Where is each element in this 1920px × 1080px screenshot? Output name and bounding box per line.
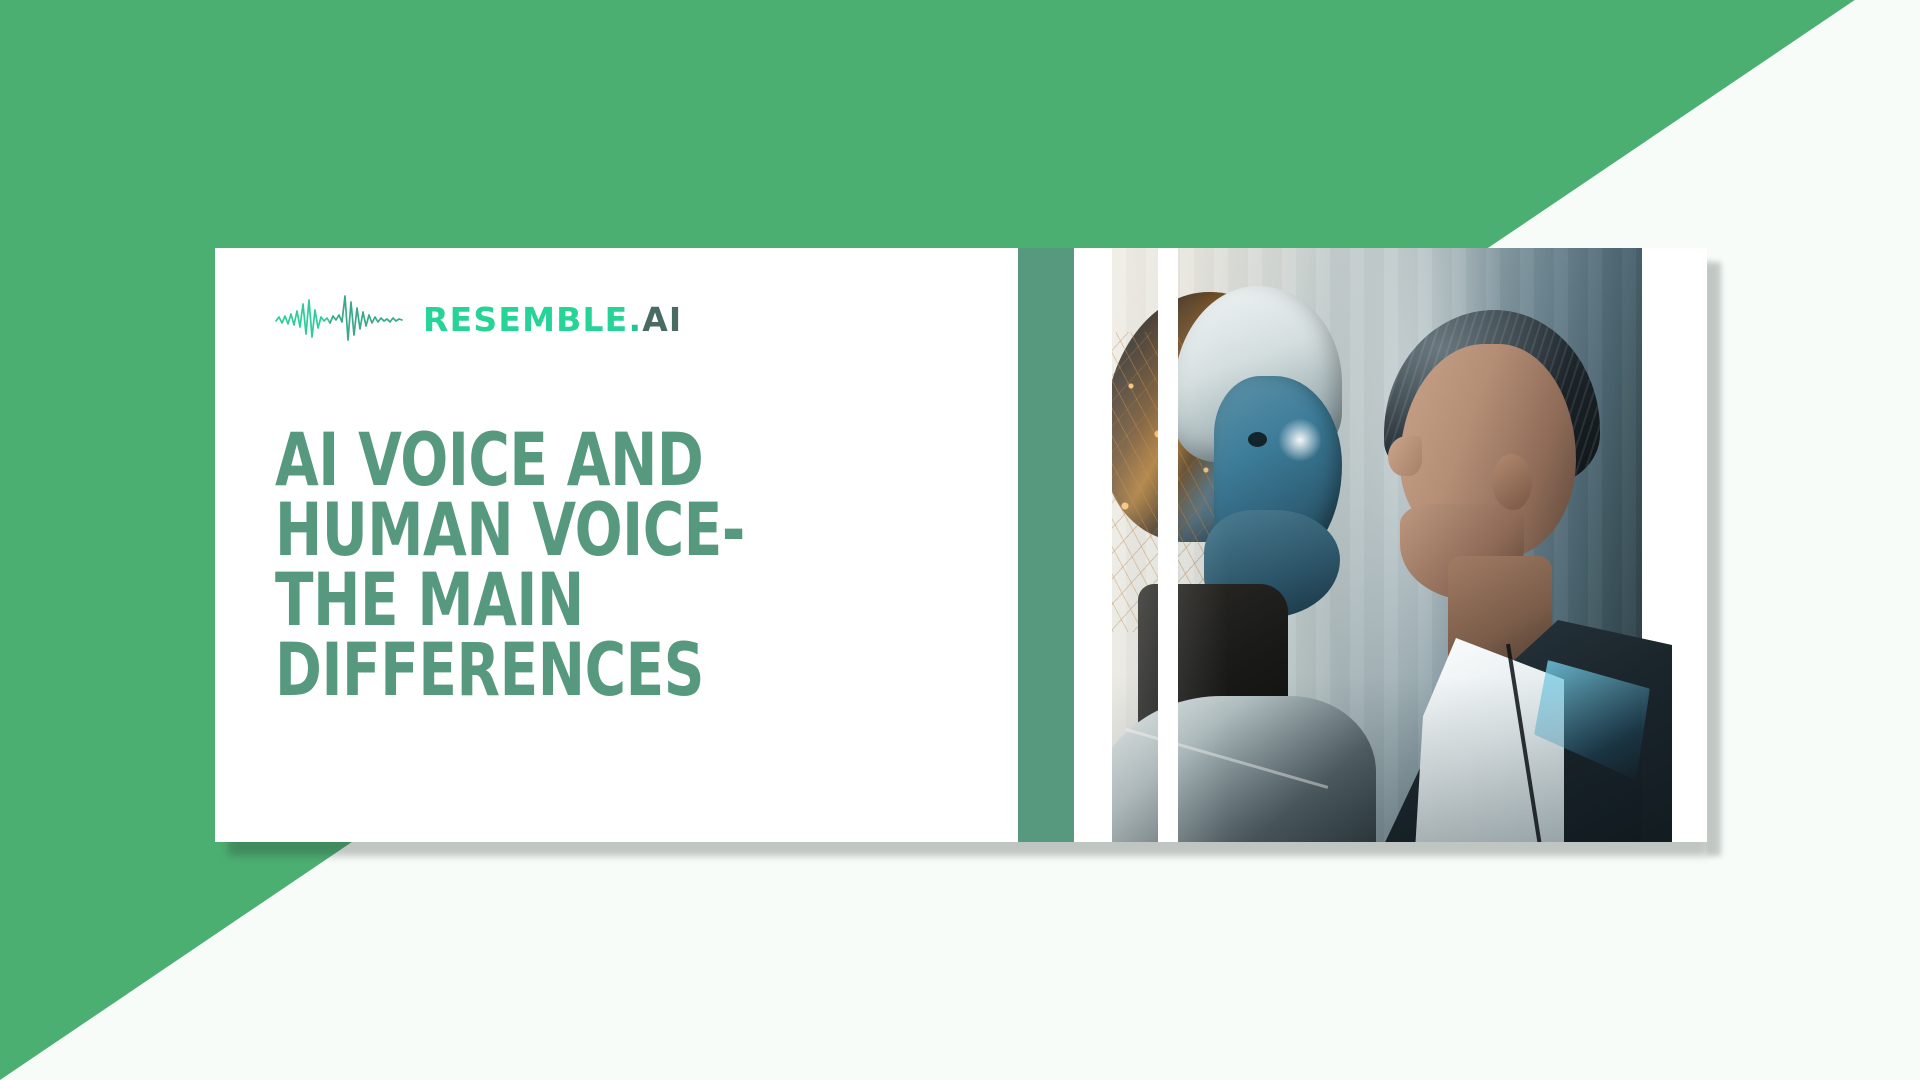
artwork-main-photo — [1178, 248, 1707, 842]
logo-dot: . — [628, 300, 642, 339]
card-text-panel: RESEMBLE.AI AI VOICE AND HUMAN VOICE- TH… — [215, 248, 1018, 842]
logo-brand-text: RESEMBLE — [423, 300, 628, 339]
photo-drop-shadow — [1707, 262, 1721, 856]
robot-shoulder — [1112, 696, 1158, 842]
banner-headline: AI VOICE AND HUMAN VOICE- THE MAIN DIFFE… — [275, 426, 868, 706]
artwork-thin-strip — [1112, 248, 1158, 842]
banner-card: RESEMBLE.AI AI VOICE AND HUMAN VOICE- TH… — [215, 248, 1707, 842]
accent-bar — [1018, 248, 1074, 842]
banner-canvas: RESEMBLE.AI AI VOICE AND HUMAN VOICE- TH… — [0, 0, 1920, 1080]
robot-figure — [1112, 292, 1158, 842]
logo-wordmark: RESEMBLE.AI — [423, 303, 682, 336]
card-image-panel — [1018, 248, 1707, 842]
human-ear — [1492, 454, 1532, 510]
artwork-scene-main — [1178, 248, 1642, 842]
logo-ai-text: AI — [642, 300, 682, 339]
robot-shoulder-main — [1178, 696, 1376, 842]
robot-face-highlight-main — [1278, 418, 1322, 462]
spacer-gap-1 — [1074, 248, 1112, 842]
human-figure — [1356, 308, 1656, 842]
robot-figure-main — [1178, 292, 1382, 842]
robot-eye-main — [1248, 432, 1267, 447]
resemble-ai-logo[interactable]: RESEMBLE.AI — [275, 290, 682, 348]
artwork-scene-strip — [1112, 248, 1158, 842]
audio-waveform-icon — [275, 290, 403, 348]
human-nose — [1388, 436, 1422, 476]
spacer-gap-2 — [1158, 248, 1178, 842]
